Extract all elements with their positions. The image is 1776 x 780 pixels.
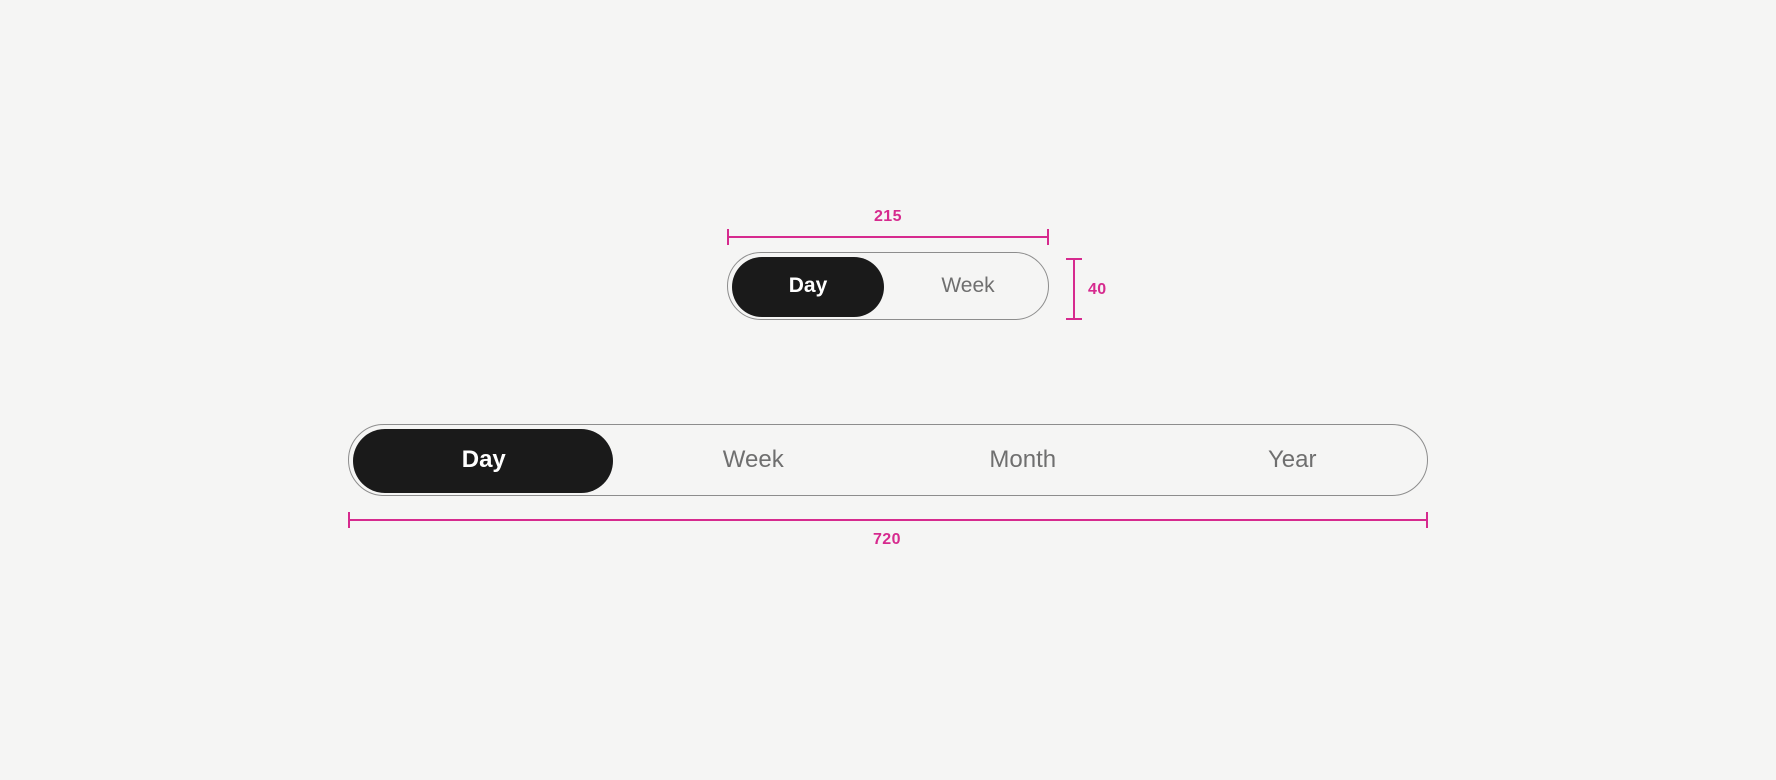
spec-canvas: 215 Day Week 40 Day Week Month Year 720 xyxy=(0,0,1776,780)
segment-option-day-small[interactable]: Day xyxy=(728,253,888,319)
segment-option-week-large[interactable]: Week xyxy=(619,425,889,495)
dimension-line-large-width xyxy=(348,519,1428,521)
segmented-control-2-options[interactable]: Day Week xyxy=(727,252,1049,320)
dimension-label-small-width: 215 xyxy=(874,208,902,226)
segment-option-day-large[interactable]: Day xyxy=(349,425,619,495)
segment-option-week-small[interactable]: Week xyxy=(888,253,1048,319)
segment-option-year-large[interactable]: Year xyxy=(1158,425,1428,495)
dimension-line-small-height xyxy=(1073,258,1075,320)
segmented-control-4-options[interactable]: Day Week Month Year xyxy=(348,424,1428,496)
segment-option-month-large[interactable]: Month xyxy=(888,425,1158,495)
dimension-label-small-height: 40 xyxy=(1088,281,1107,299)
dimension-label-large-width: 720 xyxy=(873,531,901,549)
dimension-line-small-width xyxy=(727,236,1049,238)
